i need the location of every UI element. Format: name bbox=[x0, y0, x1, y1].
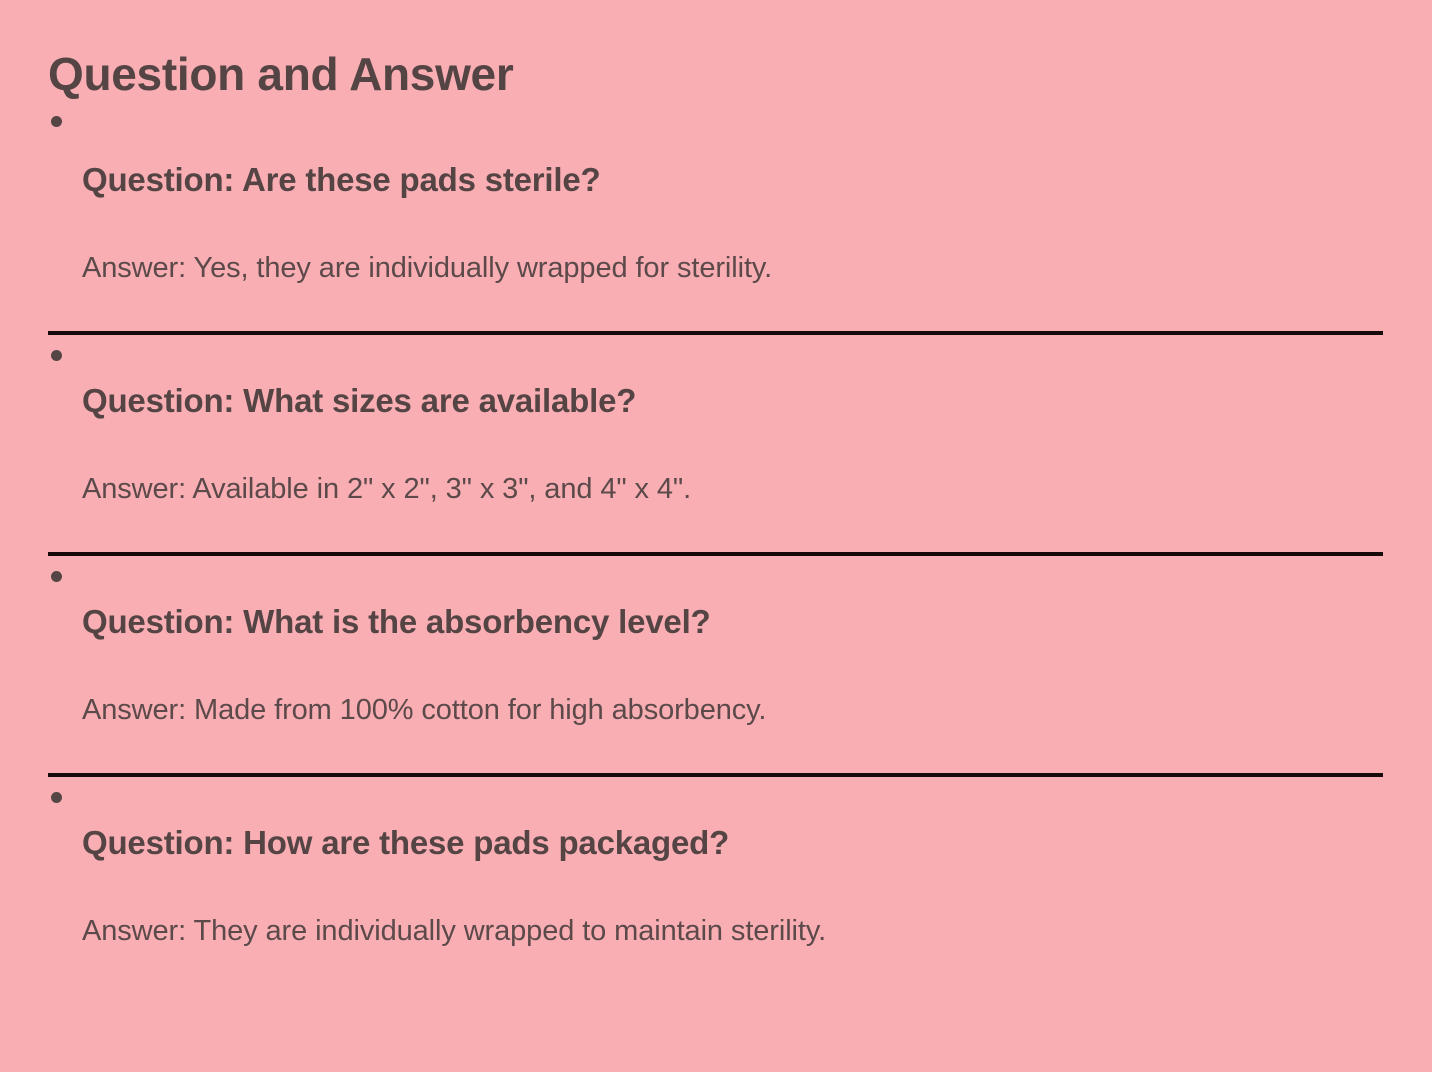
faq-answer: Answer: Yes, they are individually wrapp… bbox=[82, 200, 1384, 288]
faq-block: Question: What is the absorbency level? … bbox=[48, 556, 1384, 777]
faq-question: Question: What is the absorbency level? bbox=[82, 601, 1384, 642]
faq-question: Question: Are these pads sterile? bbox=[82, 159, 1384, 200]
faq-item: Question: How are these pads packaged? A… bbox=[48, 777, 1384, 951]
bullet-dot-icon bbox=[51, 116, 62, 127]
bullet-dot-icon bbox=[51, 350, 62, 361]
faq-answer: Answer: They are individually wrapped to… bbox=[82, 863, 1384, 951]
faq-block: Question: How are these pads packaged? A… bbox=[48, 777, 1384, 951]
bullet-dot-icon bbox=[51, 792, 62, 803]
faq-block: Question: Are these pads sterile? Answer… bbox=[48, 101, 1384, 335]
faq-page: Question and Answer Question: Are these … bbox=[0, 0, 1432, 1072]
faq-question: Question: How are these pads packaged? bbox=[82, 822, 1384, 863]
bullet-dot-icon bbox=[51, 571, 62, 582]
faq-block: Question: What sizes are available? Answ… bbox=[48, 335, 1384, 556]
page-title: Question and Answer bbox=[48, 0, 1384, 101]
faq-list: Question: Are these pads sterile? Answer… bbox=[48, 101, 1384, 951]
faq-item: Question: What is the absorbency level? … bbox=[48, 556, 1384, 730]
faq-item: Question: What sizes are available? Answ… bbox=[48, 335, 1384, 509]
faq-answer: Answer: Available in 2" x 2", 3" x 3", a… bbox=[82, 421, 1384, 509]
faq-question: Question: What sizes are available? bbox=[82, 380, 1384, 421]
faq-answer: Answer: Made from 100% cotton for high a… bbox=[82, 642, 1384, 730]
faq-item: Question: Are these pads sterile? Answer… bbox=[48, 101, 1384, 288]
